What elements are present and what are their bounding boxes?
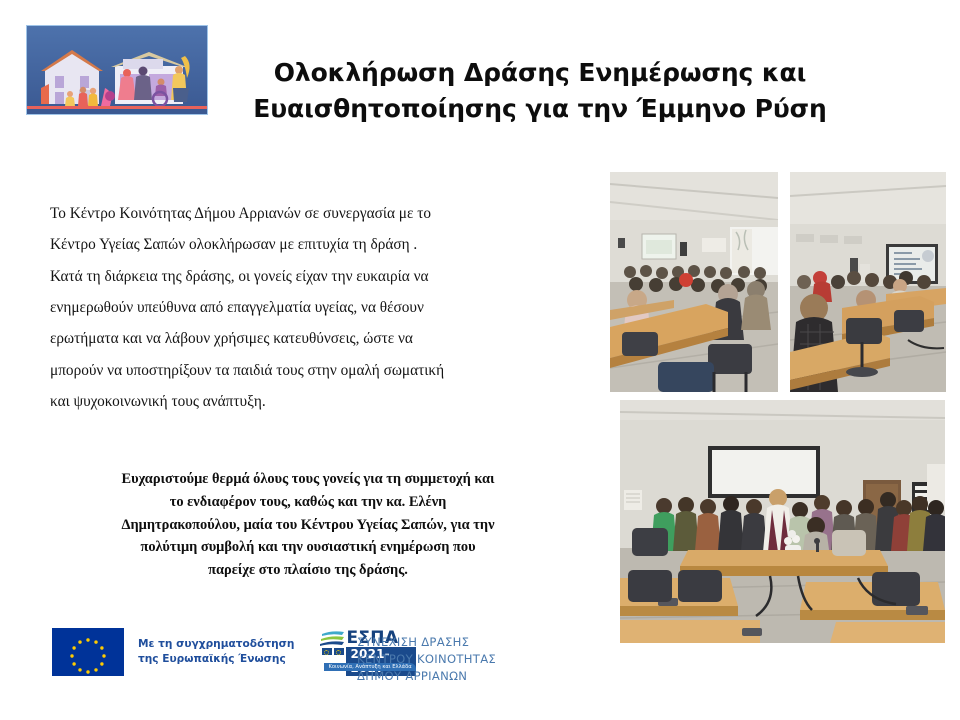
group-photo: [620, 400, 945, 643]
photo-seminar-left: [610, 172, 778, 392]
slide-canvas: { "header": { "logo_alt": "community-cen…: [0, 0, 960, 720]
espa-mini-flag: [322, 648, 332, 655]
paragraph-line: Κατά τη διάρκεια της δράσης, οι γονείς ε…: [50, 261, 550, 292]
seminar-room-photo-right: [790, 172, 946, 392]
description-paragraph: Το Κέντρο Κοινότητας Δήμου Αρριανών σε σ…: [50, 198, 550, 417]
paragraph-line: μπορούν να υποστηρίξουν τα παιδιά τους σ…: [50, 355, 550, 386]
page-title-line-1: Ολοκλήρωση Δράσης Ενημέρωσης και: [230, 55, 850, 91]
acknowledgement-paragraph: Ευχαριστούμε θερμά όλους τους γονείς για…: [58, 468, 558, 582]
acknowledgement-line: το ενδιαφέρον τους, καθώς και την κα. Ελ…: [58, 491, 558, 514]
paragraph-line: ερωτήματα και να λάβουν χρήσιμες κατευθύ…: [50, 323, 550, 354]
acknowledgement-line: Ευχαριστούμε θερμά όλους τους γονείς για…: [58, 468, 558, 491]
paragraph-line: Το Κέντρο Κοινότητας Δήμου Αρριανών σε σ…: [50, 198, 550, 229]
photo-seminar-right: [790, 172, 946, 392]
paragraph-line: και ψυχοκοινωνική τους ανάπτυξη.: [50, 386, 550, 417]
acknowledgement-line: παρείχε στο πλαίσιο της δράσης.: [58, 559, 558, 582]
european-union-stars: [52, 628, 124, 676]
community-center-logo: [26, 25, 208, 115]
acknowledgement-line: πολύτιμη συμβολή και την ουσιαστική ενημ…: [58, 536, 558, 559]
espa-mini-flags: [322, 648, 344, 655]
paragraph-line: Κέντρο Υγείας Σαπών ολοκλήρωσαν με επιτυ…: [50, 229, 550, 260]
page-title-line-2: Ευαισθητοποίησης για την Έμμηνο Ρύση: [230, 91, 850, 127]
eu-cofunding-text: Με τη συγχρηματοδότηση της Ευρωπαϊκής Έν…: [138, 637, 294, 666]
action-continuation-caption: ΣΥΝΕΧΙΣΗ ΔΡΑΣΗΣ ΚΕΝΤΡΟΥ ΚΟΙΝΟΤΗΤΑΣ ΔΗΜΟΥ…: [357, 634, 496, 684]
page-title: Ολοκλήρωση Δράσης Ενημέρωσης και Ευαισθη…: [230, 55, 850, 126]
seminar-room-photo-left: [610, 172, 778, 392]
paragraph-line: ενημερωθούν υπεύθυνα από επαγγελματία υγ…: [50, 292, 550, 323]
photo-group: [620, 400, 945, 643]
eu-flag-icon: [52, 628, 124, 676]
espa-swoosh-icon: [320, 629, 346, 649]
espa-mini-flag: [334, 648, 344, 655]
acknowledgement-line: Δημητρακοπούλου, μαία του Κέντρου Υγείας…: [58, 514, 558, 537]
houses-and-people-illustration: [27, 26, 207, 114]
